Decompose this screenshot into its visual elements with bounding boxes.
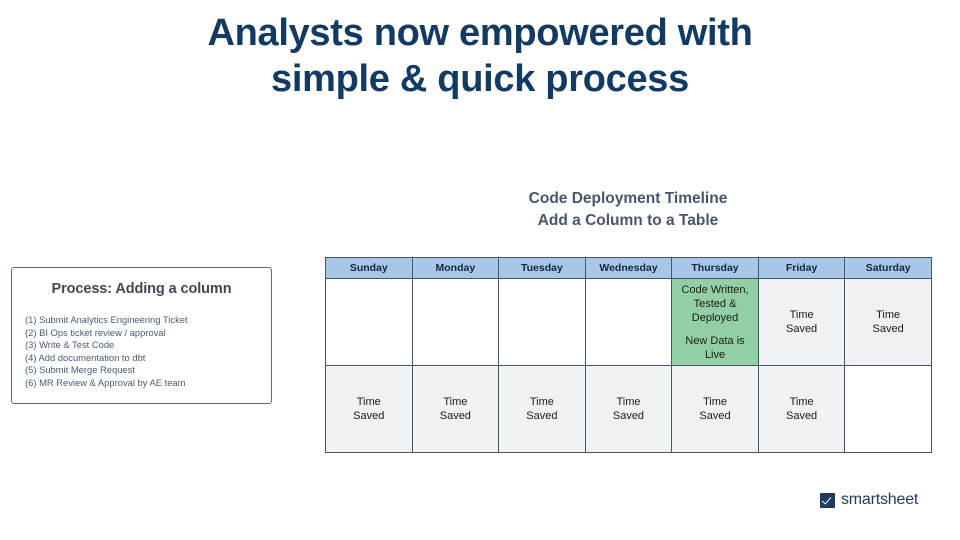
cell-week2-sunday-time-saved: Time Saved [326,366,413,453]
time-saved-line-1: Time [586,395,672,409]
cell-week1-wednesday [585,279,672,366]
time-saved-line-2: Saved [499,409,585,423]
time-saved-line-1: Time [499,395,585,409]
time-saved-line-1: Time [672,395,758,409]
deployment-text-line-2: Tested & [672,297,758,311]
process-step: (1) Submit Analytics Engineering Ticket [25,314,271,327]
deployment-timeline-table: Sunday Monday Tuesday Wednesday Thursday… [325,257,932,453]
process-step: (4) Add documentation to dbt [25,352,271,365]
time-saved-line-2: Saved [413,409,499,423]
cell-week1-thursday-deployment: Code Written, Tested & Deployed New Data… [672,279,759,366]
time-saved-line-2: Saved [586,409,672,423]
process-step: (3) Write & Test Code [25,339,271,352]
timeline-heading: Code Deployment Timeline Add a Column to… [325,188,931,232]
process-step: (6) MR Review & Approval by AE team [25,377,271,390]
cell-week1-saturday-time-saved: Time Saved [845,279,932,366]
column-header-monday: Monday [412,258,499,279]
cell-week2-thursday-time-saved: Time Saved [672,366,759,453]
page-title-line-2: simple & quick process [0,56,960,102]
time-saved-line-1: Time [326,395,412,409]
deployment-text-line-5: Live [672,348,758,362]
cell-week2-friday-time-saved: Time Saved [758,366,845,453]
table-header-row: Sunday Monday Tuesday Wednesday Thursday… [326,258,932,279]
column-header-sunday: Sunday [326,258,413,279]
cell-week2-tuesday-time-saved: Time Saved [499,366,586,453]
page-title: Analysts now empowered with simple & qui… [0,10,960,102]
deployment-text-line-1: Code Written, [672,283,758,297]
cell-week2-monday-time-saved: Time Saved [412,366,499,453]
smartsheet-logo: smartsheet [820,492,918,508]
time-saved-line-1: Time [759,308,845,322]
time-saved-line-1: Time [413,395,499,409]
time-saved-line-2: Saved [672,409,758,423]
column-header-saturday: Saturday [845,258,932,279]
process-step: (2) BI Ops ticket review / approval [25,327,271,340]
time-saved-line-2: Saved [845,322,931,336]
smartsheet-logo-text: smartsheet [841,492,918,508]
table-row: Time Saved Time Saved Time Saved Time Sa… [326,366,932,453]
deployment-text-line-4: New Data is [672,334,758,348]
time-saved-line-2: Saved [759,322,845,336]
time-saved-line-2: Saved [759,409,845,423]
table-row: Code Written, Tested & Deployed New Data… [326,279,932,366]
deployment-text-line-3: Deployed [672,311,758,325]
time-saved-line-2: Saved [326,409,412,423]
page-title-line-1: Analysts now empowered with [0,10,960,56]
cell-week1-tuesday [499,279,586,366]
column-header-friday: Friday [758,258,845,279]
process-box-title: Process: Adding a column [12,281,271,297]
process-step-list: (1) Submit Analytics Engineering Ticket … [25,314,271,390]
deployment-text-spacer [672,325,758,334]
timeline-heading-line-1: Code Deployment Timeline [325,188,931,210]
time-saved-line-1: Time [759,395,845,409]
process-step: (5) Submit Merge Request [25,364,271,377]
cell-week1-monday [412,279,499,366]
cell-week1-sunday [326,279,413,366]
checkbox-check-icon [820,493,835,508]
process-callout-box: Process: Adding a column (1) Submit Anal… [11,267,272,404]
cell-week2-saturday-blank [845,366,932,453]
column-header-thursday: Thursday [672,258,759,279]
time-saved-line-1: Time [845,308,931,322]
cell-week1-friday-time-saved: Time Saved [758,279,845,366]
column-header-wednesday: Wednesday [585,258,672,279]
column-header-tuesday: Tuesday [499,258,586,279]
timeline-heading-line-2: Add a Column to a Table [325,210,931,232]
cell-week2-wednesday-time-saved: Time Saved [585,366,672,453]
